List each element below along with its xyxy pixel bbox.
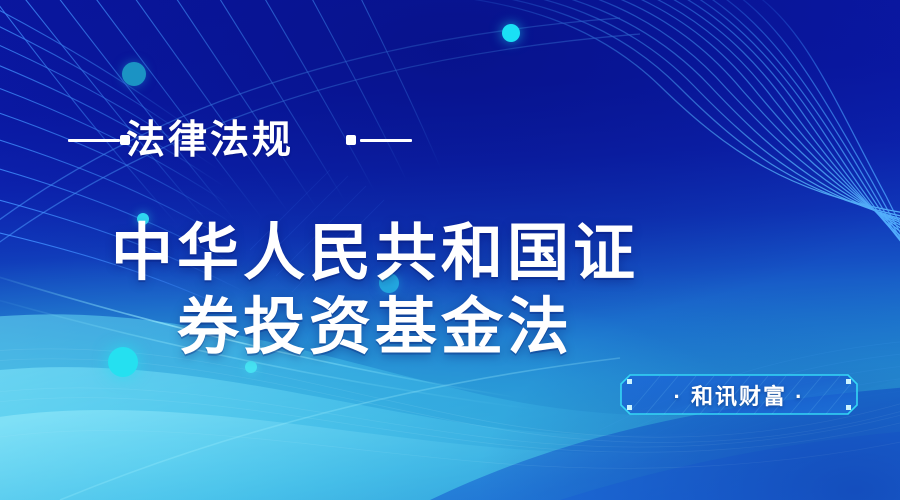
banner-root: 法律法规 中华人民共和国证 券投资基金法 bbox=[0, 0, 900, 500]
brand-badge[interactable]: · 和讯财富 · bbox=[620, 374, 858, 415]
diagonal-texture-mid bbox=[250, 170, 384, 292]
flowing-curves-top-right bbox=[392, 0, 900, 398]
eyebrow-row: 法律法规 bbox=[0, 110, 900, 170]
rule-right-bar bbox=[360, 139, 412, 142]
eyebrow-label: 法律法规 bbox=[126, 121, 294, 160]
brand-badge-label: · 和讯财富 · bbox=[620, 374, 858, 415]
rule-left-knob bbox=[120, 135, 130, 145]
rule-right-knob bbox=[346, 135, 356, 145]
background-line-art bbox=[0, 0, 900, 500]
rule-left-bar bbox=[68, 139, 120, 142]
